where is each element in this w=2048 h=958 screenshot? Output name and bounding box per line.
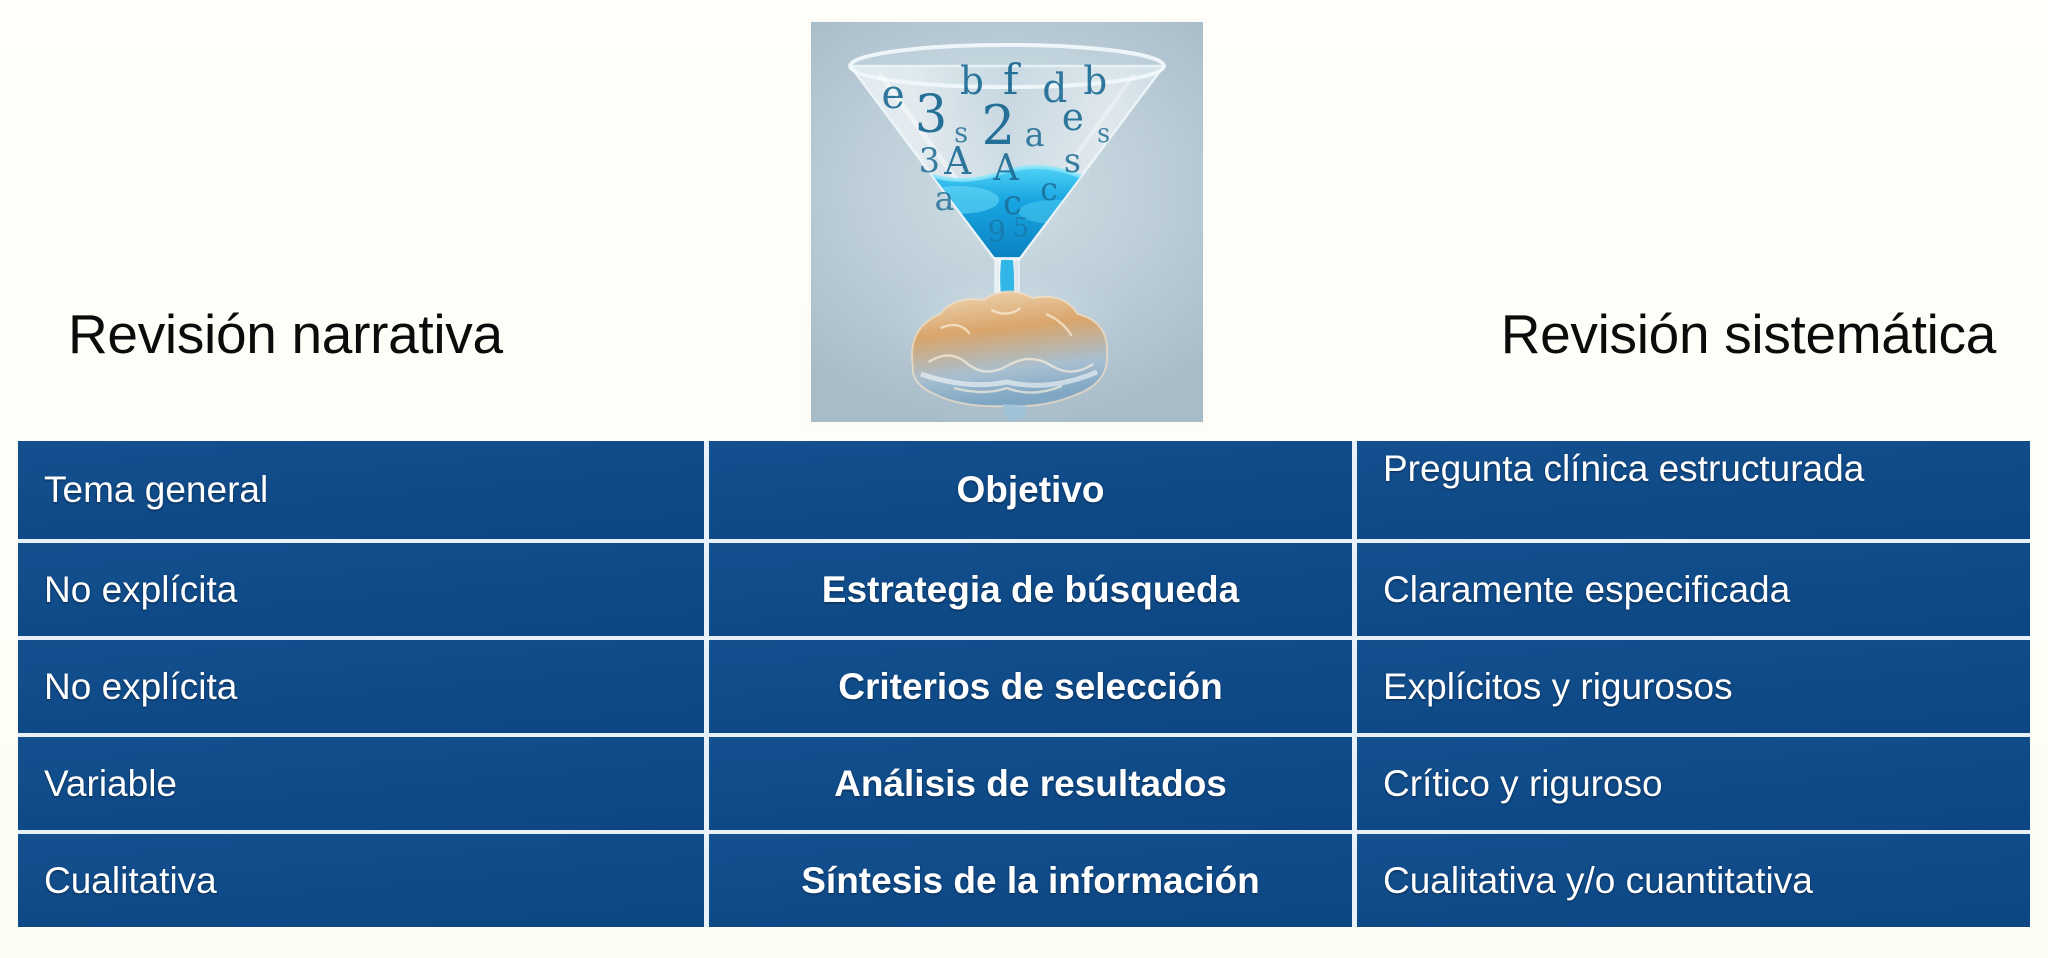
svg-text:A: A <box>943 139 972 183</box>
cell-systematic: Claramente especificada <box>1357 543 2030 636</box>
cell-narrative: Cualitativa <box>18 834 704 927</box>
svg-text:e: e <box>1062 95 1084 139</box>
cell-text: Crítico y riguroso <box>1383 763 1663 804</box>
cell-narrative: Tema general <box>18 441 704 539</box>
svg-text:b: b <box>1083 59 1107 103</box>
table-row: No explícita Criterios de selección Expl… <box>18 640 2030 733</box>
svg-text:c: c <box>1040 172 1058 208</box>
table-row: Tema general Objetivo Pregunta clínica e… <box>18 441 2030 539</box>
svg-text:3: 3 <box>915 85 947 146</box>
funnel-brain-illustration: e 3 b f d b 2 e a s s 3 A A s a c <box>807 18 1207 426</box>
cell-criteria: Objetivo <box>709 441 1352 539</box>
cell-text: Claramente especificada <box>1383 569 1790 610</box>
cell-text: Variable <box>44 763 177 804</box>
cell-text: Cualitativa y/o cuantitativa <box>1383 860 1813 901</box>
cell-text: Explícitos y rigurosos <box>1383 666 1733 707</box>
cell-text: Pregunta clínica estructurada <box>1383 449 1864 489</box>
illustration-canvas: e 3 b f d b 2 e a s s 3 A A s a c <box>811 22 1203 422</box>
cell-criteria: Síntesis de la información <box>709 834 1352 927</box>
svg-text:3: 3 <box>919 141 940 180</box>
cell-text: Cualitativa <box>44 860 217 901</box>
svg-text:a: a <box>1025 115 1045 154</box>
cell-narrative: Variable <box>18 737 704 830</box>
comparison-table: Tema general Objetivo Pregunta clínica e… <box>18 441 2030 927</box>
cell-systematic: Pregunta clínica estructurada <box>1357 441 2030 539</box>
cell-text: Objetivo <box>956 469 1104 510</box>
svg-text:s: s <box>1064 141 1081 180</box>
cell-text: No explícita <box>44 666 237 707</box>
heading-narrative-review: Revisión narrativa <box>68 306 503 364</box>
svg-text:s: s <box>1097 119 1110 149</box>
table-row: Variable Análisis de resultados Crítico … <box>18 737 2030 830</box>
svg-text:e: e <box>882 72 905 118</box>
cell-text: Análisis de resultados <box>834 763 1227 804</box>
table-row: No explícita Estrategia de búsqueda Clar… <box>18 543 2030 636</box>
cell-text: Tema general <box>44 469 268 510</box>
cell-systematic: Cualitativa y/o cuantitativa <box>1357 834 2030 927</box>
svg-text:b: b <box>960 59 984 103</box>
cell-systematic: Explícitos y rigurosos <box>1357 640 2030 733</box>
cell-narrative: No explícita <box>18 640 704 733</box>
heading-systematic-review: Revisión sistemática <box>1501 306 1996 364</box>
cell-text: Estrategia de búsqueda <box>822 569 1239 610</box>
svg-text:9: 9 <box>987 215 1006 250</box>
cell-text: Criterios de selección <box>838 666 1223 707</box>
cell-systematic: Crítico y riguroso <box>1357 737 2030 830</box>
svg-text:a: a <box>934 179 954 218</box>
cell-text: No explícita <box>44 569 237 610</box>
cell-criteria: Estrategia de búsqueda <box>709 543 1352 636</box>
slide-canvas: e 3 b f d b 2 e a s s 3 A A s a c <box>0 0 2048 958</box>
cell-narrative: No explícita <box>18 543 704 636</box>
cell-criteria: Criterios de selección <box>709 640 1352 733</box>
cell-criteria: Análisis de resultados <box>709 737 1352 830</box>
svg-text:5: 5 <box>1013 213 1029 243</box>
cell-text: Síntesis de la información <box>801 860 1260 901</box>
table-row: Cualitativa Síntesis de la información C… <box>18 834 2030 927</box>
